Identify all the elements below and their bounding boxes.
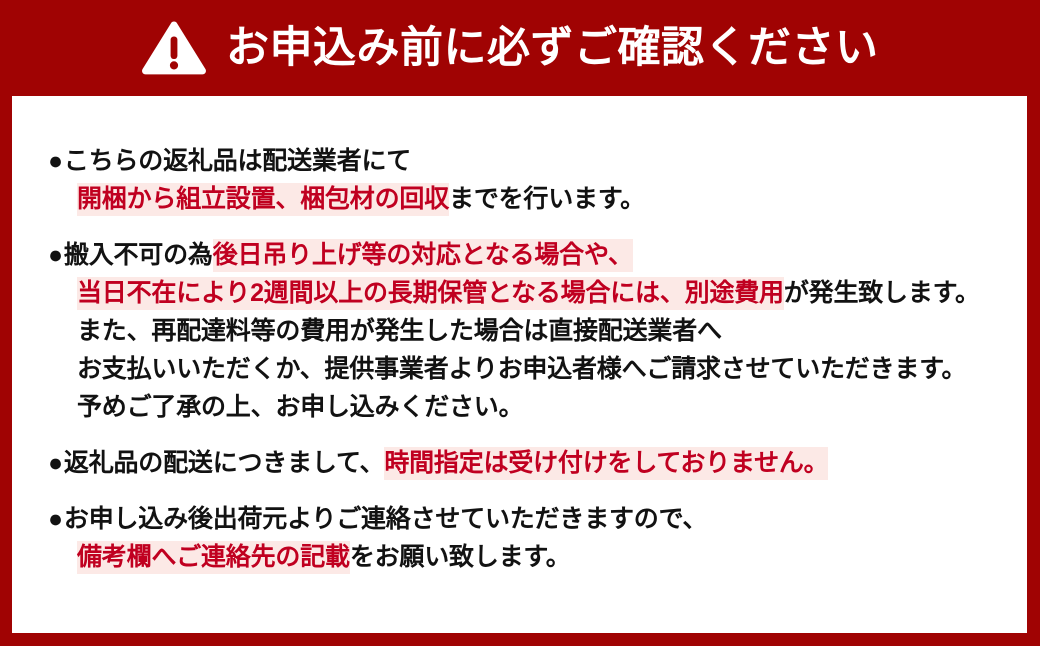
notice-text: をお願い致します。 [350, 543, 571, 571]
notice-line: 開梱から組立設置、梱包材の回収までを行います。 [48, 180, 1027, 218]
notice-line: 備考欄へご連絡先の記載をお願い致します。 [48, 538, 1027, 576]
bullet-marker: ● [48, 505, 63, 533]
highlighted-text: 後日吊り上げ等の対応となる場合や、 [213, 239, 633, 272]
notice-line: 当日不在により2週間以上の長期保管となる場合には、別途費用が発生致します。 [48, 274, 1027, 312]
notice-item-extra-fees: ●搬入不可の為後日吊り上げ等の対応となる場合や、当日不在により2週間以上の長期保… [48, 236, 1027, 426]
highlighted-text: 備考欄へご連絡先の記載 [77, 541, 350, 574]
bullet-marker: ● [48, 449, 63, 477]
warning-triangle-icon [140, 20, 208, 76]
notice-line: ●搬入不可の為後日吊り上げ等の対応となる場合や、 [48, 236, 1027, 274]
notice-body-panel: ●こちらの返礼品は配送業者にて開梱から組立設置、梱包材の回収までを行います。●搬… [12, 96, 1027, 633]
notice-text: お支払いいただくか、提供事業者よりお申込者様へご請求させていただきます。 [77, 355, 966, 383]
notice-text: までを行います。 [449, 185, 645, 213]
notice-line: 予めご了承の上、お申し込みください。 [48, 388, 1027, 426]
highlighted-text: 開梱から組立設置、梱包材の回収 [77, 183, 449, 216]
highlighted-text: 時間指定は受け付けをしておりません。 [384, 447, 828, 480]
notice-line: ●こちらの返礼品は配送業者にて [48, 142, 1027, 180]
highlighted-text: 当日不在により2週間以上の長期保管となる場合には、別途費用 [77, 277, 784, 310]
notice-item-contact-in-remarks: ●お申し込み後出荷元よりご連絡させていただきますので、備考欄へご連絡先の記載をお… [48, 500, 1027, 576]
notice-item-no-time-designation: ●返礼品の配送につきまして、時間指定は受け付けをしておりません。 [48, 444, 1027, 482]
notice-text: こちらの返礼品は配送業者にて [64, 147, 411, 175]
notice-line: ●お申し込み後出荷元よりご連絡させていただきますので、 [48, 500, 1027, 538]
page-title: お申込み前に必ずご確認ください [226, 27, 879, 70]
notice-line: ●返礼品の配送につきまして、時間指定は受け付けをしておりません。 [48, 444, 1027, 482]
notice-text: お申し込み後出荷元よりご連絡させていただきますので、 [64, 505, 707, 533]
notice-bullet-list: ●こちらの返礼品は配送業者にて開梱から組立設置、梱包材の回収までを行います。●搬… [48, 142, 1027, 576]
notice-line: また、再配達料等の費用が発生した場合は直接配送業者へ [48, 312, 1027, 350]
important-notice-card: お申込み前に必ずご確認ください ●こちらの返礼品は配送業者にて開梱から組立設置、… [0, 0, 1040, 646]
notice-header: お申込み前に必ずご確認ください [12, 0, 1027, 96]
notice-text: 搬入不可の為 [64, 241, 213, 269]
notice-text: が発生致します。 [784, 279, 980, 307]
notice-line: お支払いいただくか、提供事業者よりお申込者様へご請求させていただきます。 [48, 350, 1027, 388]
notice-text: また、再配達料等の費用が発生した場合は直接配送業者へ [77, 317, 722, 345]
bullet-marker: ● [48, 241, 63, 269]
notice-item-delivery-assembly: ●こちらの返礼品は配送業者にて開梱から組立設置、梱包材の回収までを行います。 [48, 142, 1027, 218]
notice-text: 予めご了承の上、お申し込みください。 [77, 393, 523, 421]
bullet-marker: ● [48, 147, 63, 175]
notice-text: 返礼品の配送につきまして、 [64, 449, 384, 477]
